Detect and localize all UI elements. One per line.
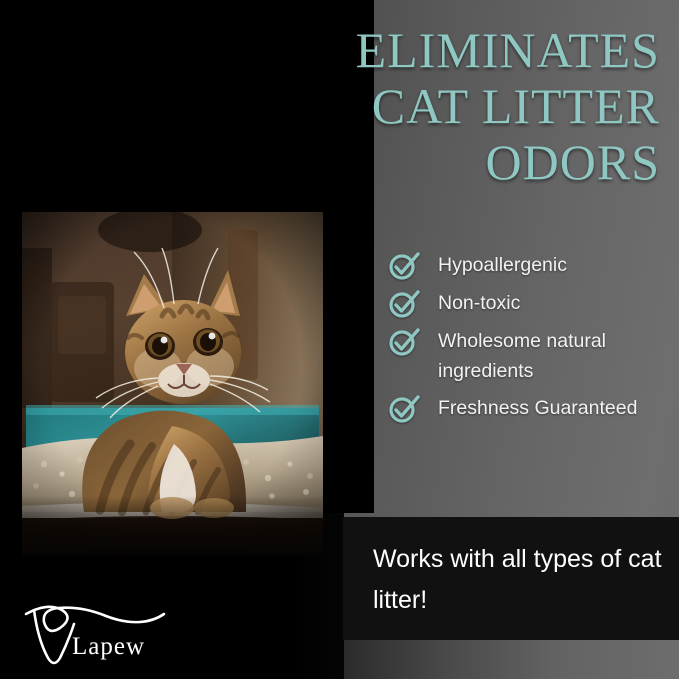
- check-circle-icon: [388, 394, 420, 424]
- list-item-label: Non-toxic: [438, 288, 520, 318]
- product-infographic: ELIMINATES CAT LITTER ODORS Hypoallergen…: [0, 0, 679, 679]
- feature-list: Hypoallergenic Non-toxic Wholesome natur…: [388, 250, 673, 431]
- brand-name: Lapew: [72, 633, 145, 660]
- list-item: Wholesome natural ingredients: [388, 326, 673, 386]
- headline-line-1: ELIMINATES: [300, 22, 660, 78]
- check-circle-icon: [388, 327, 420, 357]
- list-item-label: Wholesome natural ingredients: [438, 326, 673, 386]
- list-item: Freshness Guaranteed: [388, 393, 673, 424]
- list-item: Hypoallergenic: [388, 250, 673, 281]
- brand-logo: Lapew: [18, 600, 198, 672]
- list-item-label: Hypoallergenic: [438, 250, 567, 280]
- callout-text: Works with all types of cat litter!: [373, 539, 663, 621]
- callout-panel: Works with all types of cat litter!: [343, 517, 679, 640]
- kitten-in-litter-box-photo: [22, 212, 323, 556]
- headline-line-3: ODORS: [300, 134, 660, 190]
- list-item: Non-toxic: [388, 288, 673, 319]
- page-title: ELIMINATES CAT LITTER ODORS: [300, 22, 660, 190]
- check-circle-icon: [388, 251, 420, 281]
- headline-line-2: CAT LITTER: [300, 78, 660, 134]
- list-item-label: Freshness Guaranteed: [438, 393, 637, 423]
- check-circle-icon: [388, 289, 420, 319]
